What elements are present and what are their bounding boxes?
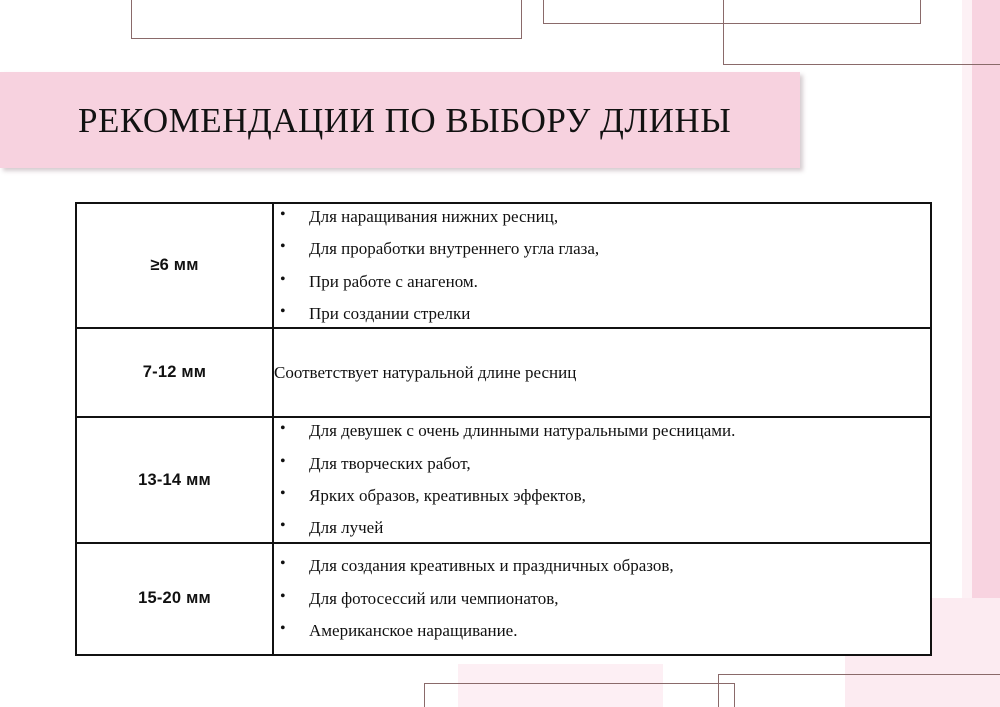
decorative-top-left-outline <box>131 0 522 39</box>
length-value-cell: ≥6 мм <box>76 203 273 328</box>
description-text: Соответствует натуральной длине ресниц <box>274 360 930 386</box>
table-row: 15-20 мм Для создания креативных и празд… <box>76 543 931 655</box>
bullet-list: Для девушек с очень длинными натуральным… <box>274 418 930 541</box>
description-cell: Для девушек с очень длинными натуральным… <box>273 417 931 542</box>
table-row: 7-12 мм Соответствует натуральной длине … <box>76 328 931 417</box>
decorative-top-right-outline <box>723 0 1000 65</box>
list-item: Для лучей <box>274 515 930 541</box>
list-item: При создании стрелки <box>274 301 930 327</box>
table-row: ≥6 мм Для наращивания нижних ресниц, Для… <box>76 203 931 328</box>
length-value-cell: 15-20 мм <box>76 543 273 655</box>
list-item: Для фотосессий или чемпионатов, <box>274 586 930 612</box>
decorative-bottom-right-outline <box>718 674 1000 707</box>
length-value-cell: 7-12 мм <box>76 328 273 417</box>
description-cell: Для наращивания нижних ресниц, Для прора… <box>273 203 931 328</box>
list-item: Для творческих работ, <box>274 451 930 477</box>
length-value-cell: 13-14 мм <box>76 417 273 542</box>
list-item: При работе с анагеном. <box>274 269 930 295</box>
length-recommendations-table: ≥6 мм Для наращивания нижних ресниц, Для… <box>75 202 932 656</box>
bullet-list: Для наращивания нижних ресниц, Для прора… <box>274 204 930 327</box>
list-item: Американское наращивание. <box>274 618 930 644</box>
list-item: Ярких образов, креативных эффектов, <box>274 483 930 509</box>
list-item: Для девушек с очень длинными натуральным… <box>274 418 930 444</box>
description-cell: Для создания креативных и праздничных об… <box>273 543 931 655</box>
table-row: 13-14 мм Для девушек с очень длинными на… <box>76 417 931 542</box>
description-cell: Соответствует натуральной длине ресниц <box>273 328 931 417</box>
list-item: Для наращивания нижних ресниц, <box>274 204 930 230</box>
list-item: Для проработки внутреннего угла глаза, <box>274 236 930 262</box>
decorative-bottom-left-outline <box>424 683 735 707</box>
list-item: Для создания креативных и праздничных об… <box>274 553 930 579</box>
page-title: РЕКОМЕНДАЦИИ ПО ВЫБОРУ ДЛИНЫ <box>78 96 778 146</box>
slide-canvas: РЕКОМЕНДАЦИИ ПО ВЫБОРУ ДЛИНЫ ≥6 мм Для н… <box>0 0 1000 707</box>
bullet-list: Для создания креативных и праздничных об… <box>274 553 930 644</box>
